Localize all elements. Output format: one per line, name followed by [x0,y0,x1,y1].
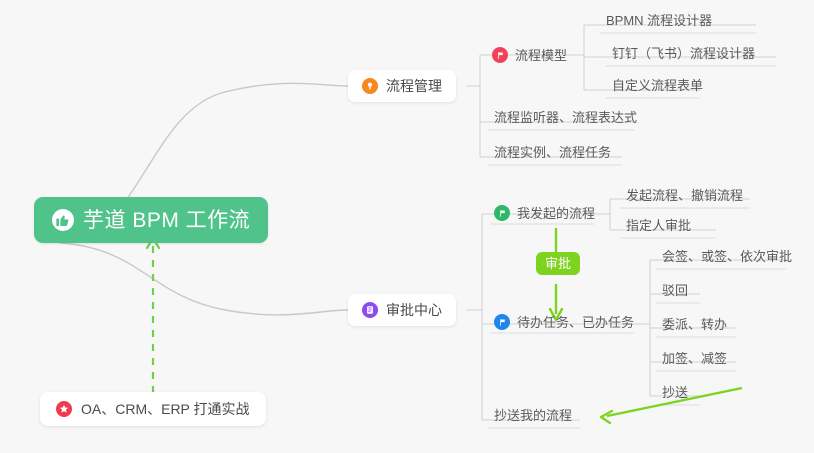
branch-label-process-management: 流程管理 [386,79,442,93]
leaf-add-remove-sign[interactable]: 加签、减签 [656,352,733,370]
leaf-countersign-orsign-sequential[interactable]: 会签、或签、依次审批 [656,250,798,268]
leaf-assigned-approver[interactable]: 指定人审批 [620,219,697,237]
callout-label: OA、CRM、ERP 打通实战 [81,402,250,416]
leaf-process-listener-expression[interactable]: 流程监听器、流程表达式 [488,111,643,129]
callout-card[interactable]: OA、CRM、ERP 打通实战 [40,392,266,426]
approval-badge: 审批 [536,252,580,275]
connector-root-to-approval-center [60,243,348,315]
branch-node-process-management[interactable]: 流程管理 [348,70,456,102]
leaf-process-instance-task[interactable]: 流程实例、流程任务 [488,146,617,164]
leaf-bpmn-designer[interactable]: BPMN 流程设计器 [600,14,718,32]
flag-icon [494,205,510,221]
branch-node-approval-center[interactable]: 审批中心 [348,294,456,326]
leaf-start-cancel-process[interactable]: 发起流程、撤销流程 [620,189,749,207]
root-node[interactable]: 芋道 BPM 工作流 [34,197,268,243]
flag-icon [494,314,510,330]
clipboard-icon [362,302,378,318]
leaf-custom-process-form[interactable]: 自定义流程表单 [606,79,709,97]
thumbs-up-icon [52,209,74,231]
branch-label-approval-center: 审批中心 [386,303,442,317]
lightbulb-icon [362,78,378,94]
node-label-my-initiated-process: 我发起的流程 [517,207,595,220]
leaf-cc-my-process[interactable]: 抄送我的流程 [488,409,578,427]
root-label: 芋道 BPM 工作流 [83,210,250,231]
leaf-reject[interactable]: 驳回 [656,284,694,302]
node-todo-done-tasks[interactable]: 待办任务、已办任务 [492,314,638,334]
node-my-initiated-process[interactable]: 我发起的流程 [492,205,599,225]
node-label-todo-done-tasks: 待办任务、已办任务 [517,316,634,329]
leaf-dingtalk-feishu-designer[interactable]: 钉钉（飞书）流程设计器 [606,47,761,65]
node-process-model[interactable]: 流程模型 [490,47,571,67]
leaf-cc[interactable]: 抄送 [656,386,694,404]
leaf-delegate-transfer[interactable]: 委派、转办 [656,318,733,336]
star-icon [56,401,72,417]
node-label-process-model: 流程模型 [515,49,567,62]
flag-icon [492,47,508,63]
mindmap-canvas: 芋道 BPM 工作流 流程管理 流程模型 BPMN 流程设计器 钉钉（飞书）流程… [0,0,814,453]
